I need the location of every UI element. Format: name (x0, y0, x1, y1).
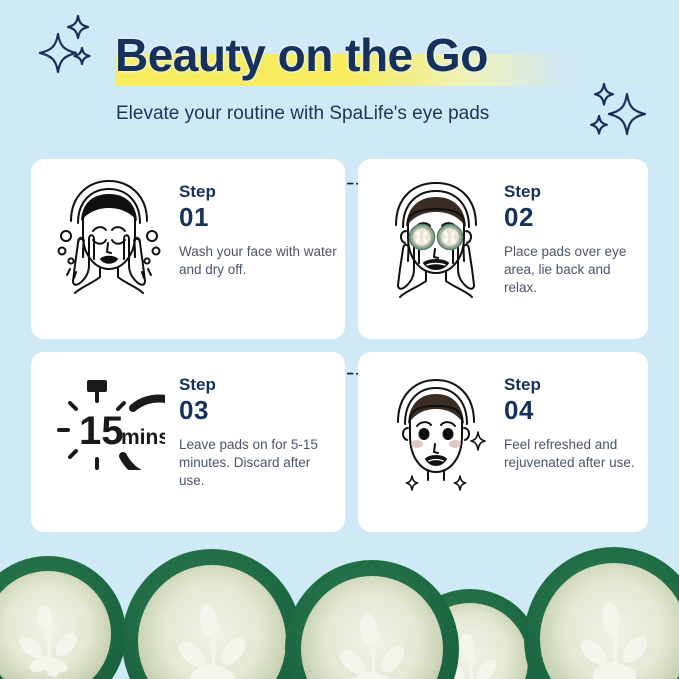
step-card-03[interactable]: 15 mins Step 03 Leave pads on for 5-15 m… (31, 352, 345, 532)
happy-face-icon (372, 366, 500, 494)
step-number: 02 (504, 202, 644, 232)
cucumber-pad (524, 547, 679, 679)
header: Beauty on the Go Elevate your routine wi… (0, 0, 679, 150)
step-label: Step (504, 374, 646, 395)
step-card-04[interactable]: Step 04 Feel refreshed and rejuvenated a… (358, 352, 648, 532)
step-description: Leave pads on for 5-15 minutes. Discard … (179, 436, 337, 490)
step-label: Step (179, 181, 337, 202)
step-number: 04 (504, 395, 646, 425)
sparkle-icon (30, 12, 105, 78)
cucumber-pad (285, 560, 459, 679)
timer-unit: mins (121, 426, 165, 449)
step-number: 03 (179, 395, 337, 425)
page-title-wrap: Beauty on the Go (115, 24, 575, 86)
step-number: 01 (179, 202, 337, 232)
cucumber-pad (0, 556, 126, 679)
face-with-eye-pads-icon (372, 173, 500, 301)
step-label: Step (504, 181, 644, 202)
face-washing-icon (45, 173, 173, 301)
step-label: Step (179, 374, 337, 395)
sparkle-icon (586, 78, 664, 144)
step-description: Place pads over eye area, lie back and r… (504, 243, 644, 297)
step-text-01: Step 01 Wash your face with water and dr… (179, 181, 337, 279)
stopwatch-icon: 15 mins (49, 378, 165, 470)
infographic-canvas: Beauty on the Go Elevate your routine wi… (0, 0, 679, 679)
page-subtitle: Elevate your routine with SpaLife's eye … (116, 101, 596, 127)
cucumber-eye-pads-row (0, 509, 679, 679)
cucumber-pad (122, 549, 302, 679)
timer-value: 15 (79, 409, 124, 453)
step-text-02: Step 02 Place pads over eye area, lie ba… (504, 181, 644, 297)
page-title: Beauty on the Go (115, 24, 575, 86)
step-text-04: Step 04 Feel refreshed and rejuvenated a… (504, 374, 646, 472)
step-card-01[interactable]: Step 01 Wash your face with water and dr… (31, 159, 345, 339)
step-description: Wash your face with water and dry off. (179, 243, 337, 279)
step-text-03: Step 03 Leave pads on for 5-15 minutes. … (179, 374, 337, 490)
step-description: Feel refreshed and rejuvenated after use… (504, 436, 646, 472)
step-card-02[interactable]: Step 02 Place pads over eye area, lie ba… (358, 159, 648, 339)
